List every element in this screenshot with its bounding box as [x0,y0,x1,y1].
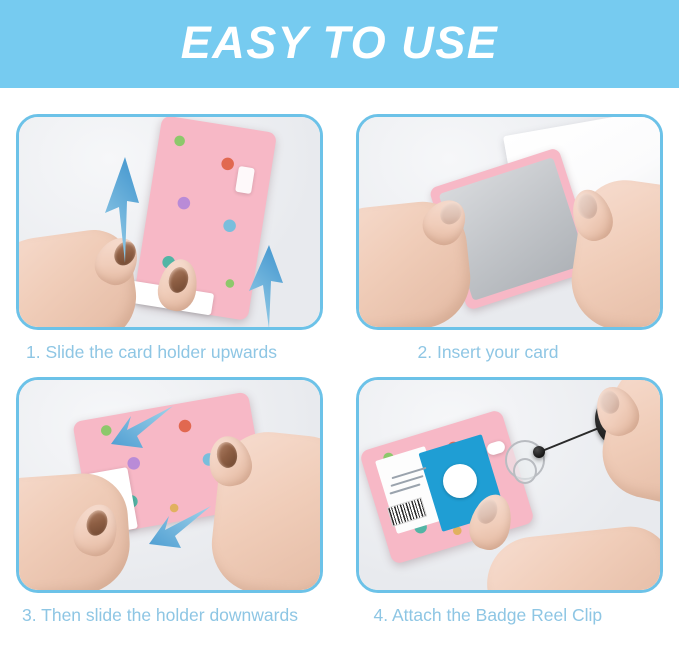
badge-clasp-ring-inner [513,458,537,484]
steps-grid: 1. Slide the card holder upwards [0,88,679,626]
reel-cord-anchor [533,446,545,458]
arrow-down-left-top [109,404,175,452]
page-title: EASY TO USE [181,20,498,65]
step-image-3 [16,377,323,593]
step-cell-1: 1. Slide the card holder upwards [0,88,340,363]
step-caption-1: 1. Slide the card holder upwards [16,342,324,363]
step-cell-3: 3. Then slide the holder downwards [0,363,340,626]
step-image-1 [16,114,323,330]
avatar [443,464,477,498]
arrow-down-left-bottom [147,504,213,552]
step-image-4 [356,377,663,593]
arrow-up-left [95,155,141,265]
step-row-top: 1. Slide the card holder upwards [0,88,679,363]
header-banner: EASY TO USE [0,0,679,88]
step-caption-3: 3. Then slide the holder downwards [16,605,324,626]
arrow-up-right [241,243,287,330]
step-row-bottom: 3. Then slide the holder downwards [0,363,679,626]
scene-1 [19,117,320,327]
scene-4 [359,380,660,590]
step-cell-4: 4. Attach the Badge Reel Clip [340,363,679,626]
step-caption-4: 4. Attach the Badge Reel Clip [356,605,664,626]
scene-3 [19,380,320,590]
step-caption-2: 2. Insert your card [356,342,664,363]
step-image-2 [356,114,663,330]
step-cell-2: 2. Insert your card [340,88,679,363]
scene-2 [359,117,660,327]
